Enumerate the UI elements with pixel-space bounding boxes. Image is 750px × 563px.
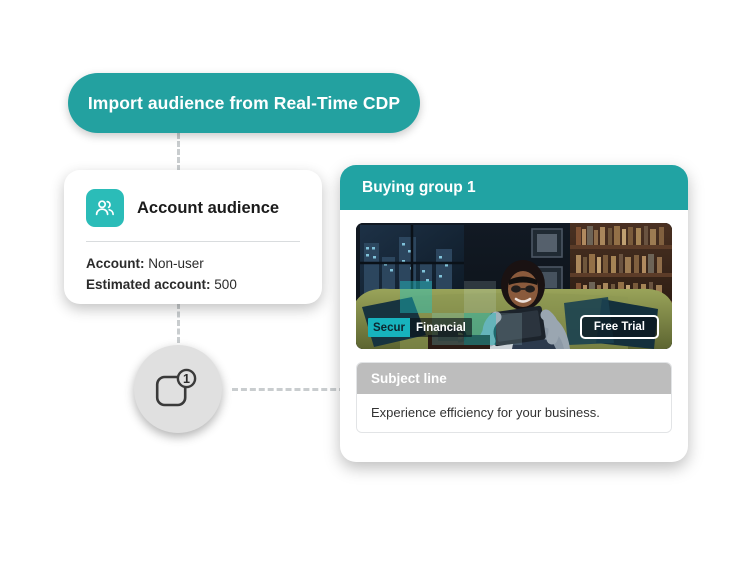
audience-row-account-label: Account: <box>86 256 145 271</box>
creative-brand-logo: Secur Financial <box>368 318 472 337</box>
audience-group-icon <box>86 189 124 227</box>
audience-row-estimated-label: Estimated account: <box>86 277 211 292</box>
brand-logo-name: Financial <box>410 318 472 337</box>
buying-group-body: Secur Financial Free Trial Subject line … <box>340 210 688 449</box>
subject-line-block: Subject line Experience efficiency for y… <box>356 362 672 433</box>
content-node-badge: 1 <box>183 372 190 386</box>
subject-line-header: Subject line <box>357 363 671 394</box>
connector-node-to-panel <box>232 388 354 391</box>
audience-row-estimated-value: 500 <box>214 277 237 292</box>
connector-pill-to-card <box>177 133 180 171</box>
audience-card-header: Account audience <box>86 189 300 227</box>
content-card-icon: 1 <box>155 368 201 410</box>
account-audience-card[interactable]: Account audience Account: Non-user Estim… <box>64 170 322 304</box>
audience-card-divider <box>86 241 300 242</box>
buying-group-panel[interactable]: Buying group 1 <box>340 165 688 462</box>
brand-logo-mark: Secur <box>368 318 410 337</box>
content-node-button[interactable]: 1 <box>134 345 222 433</box>
audience-card-rows: Account: Non-user Estimated account: 500 <box>86 253 300 295</box>
connector-card-to-node <box>177 303 180 343</box>
audience-card-title: Account audience <box>137 199 279 218</box>
subject-line-text[interactable]: Experience efficiency for your business. <box>357 394 671 432</box>
audience-row-account: Account: Non-user <box>86 253 300 274</box>
import-audience-label: Import audience from Real-Time CDP <box>88 93 400 114</box>
import-audience-button[interactable]: Import audience from Real-Time CDP <box>68 73 420 133</box>
email-creative-image: Secur Financial Free Trial <box>356 223 672 349</box>
buying-group-title: Buying group 1 <box>362 179 476 197</box>
audience-row-estimated: Estimated account: 500 <box>86 274 300 295</box>
free-trial-button[interactable]: Free Trial <box>580 315 659 339</box>
flow-canvas: Import audience from Real-Time CDP Accou… <box>0 0 750 563</box>
buying-group-header: Buying group 1 <box>340 165 688 210</box>
audience-row-account-value: Non-user <box>148 256 204 271</box>
